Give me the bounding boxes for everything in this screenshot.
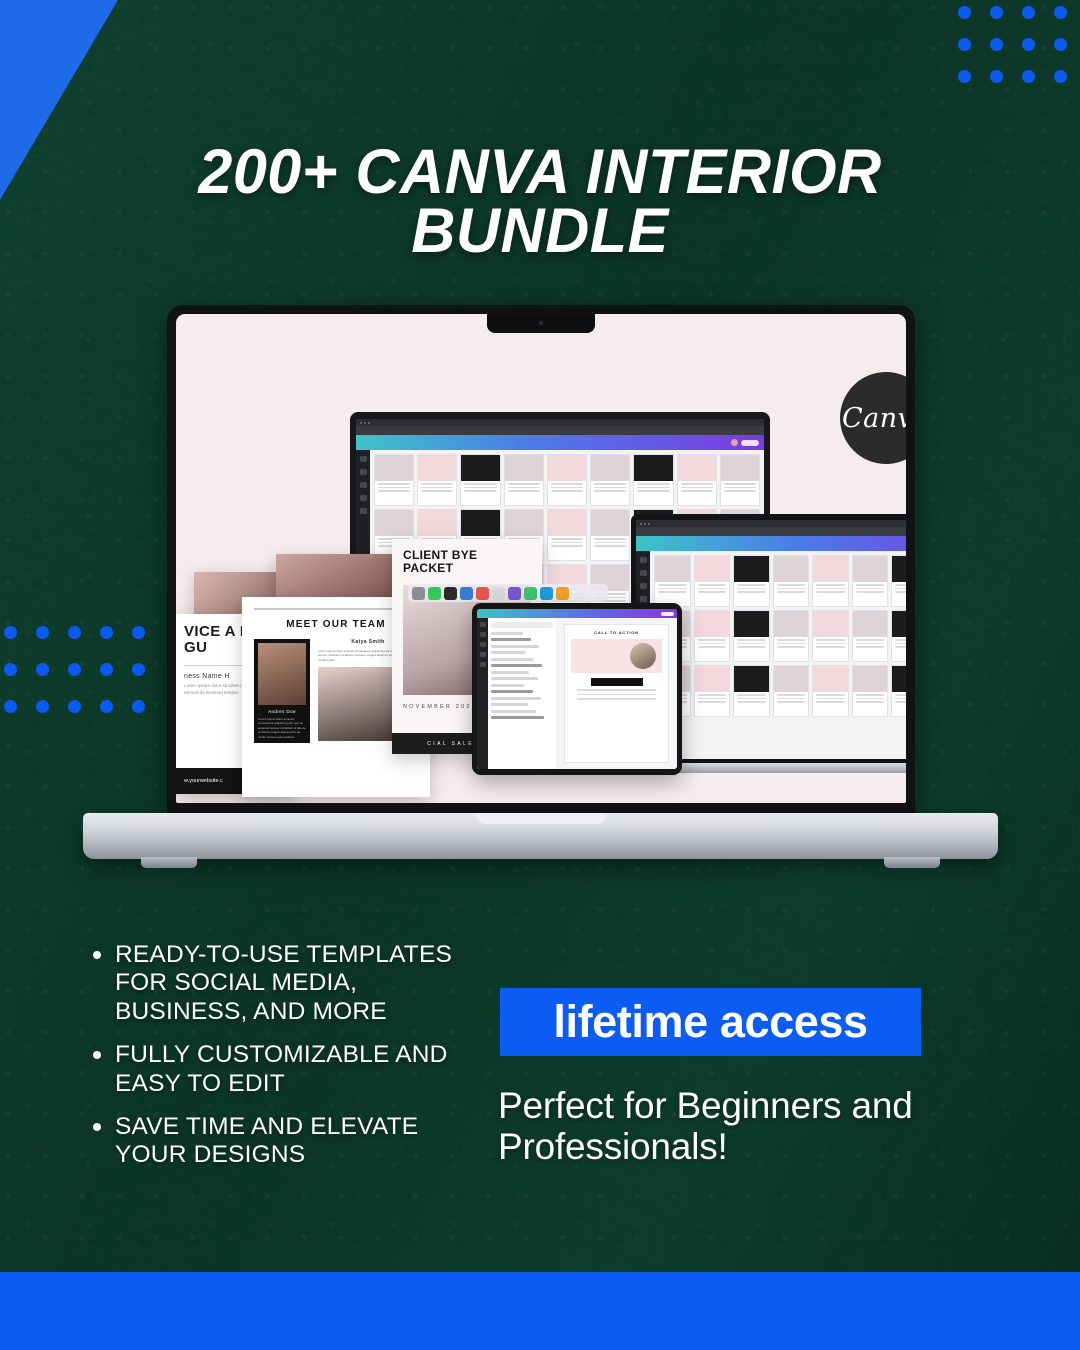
- template-card[interactable]: [852, 555, 889, 607]
- template-card[interactable]: [852, 665, 889, 717]
- template-text-line: [895, 646, 906, 648]
- template-card[interactable]: [694, 610, 731, 662]
- decorative-dot: [1054, 38, 1067, 51]
- template-text-line: [724, 487, 756, 489]
- menu-dot-icon: [644, 523, 646, 525]
- text-line: [577, 689, 655, 691]
- rail-icon: [640, 557, 647, 563]
- template-text-line: [816, 646, 845, 648]
- template-text-line: [895, 694, 906, 696]
- template-thumbnail: [774, 666, 809, 692]
- rail-icon: [640, 570, 647, 576]
- template-thumbnail: [721, 455, 759, 481]
- template-text-line: [551, 542, 583, 544]
- decorative-dot: [36, 626, 49, 639]
- template-card[interactable]: [590, 509, 630, 561]
- template-card[interactable]: [504, 454, 544, 506]
- template-text-line: [594, 542, 626, 544]
- decorative-dot: [4, 626, 17, 639]
- template-text-line: [777, 694, 806, 696]
- template-text-line: [508, 483, 540, 485]
- webcam-notch-icon: [487, 314, 595, 333]
- canva-side-rail: [477, 618, 488, 769]
- template-text-line: [698, 584, 727, 586]
- template-text-line: [777, 584, 806, 586]
- decorative-dot: [990, 6, 1003, 19]
- browser-tab-strip: [636, 527, 906, 536]
- template-thumbnail: [695, 666, 730, 692]
- template-text-line: [698, 701, 727, 703]
- template-text-line: [777, 643, 806, 645]
- template-text-line: [421, 490, 453, 492]
- rail-icon: [360, 469, 367, 475]
- poster-canvas: 200+ CANVA INTERIOR BUNDLE Canva: [0, 0, 1080, 1350]
- template-card[interactable]: [547, 454, 587, 506]
- page-title: CALL TO ACTION: [594, 630, 639, 635]
- template-text-line: [737, 639, 766, 641]
- canva-logo: Canva: [840, 372, 906, 464]
- template-text-line: [737, 643, 766, 645]
- decorative-dot: [1022, 6, 1035, 19]
- template-text-line: [658, 588, 687, 590]
- design-canvas: CALL TO ACTION: [556, 618, 677, 769]
- font-list-item[interactable]: [491, 632, 523, 635]
- template-thumbnail: [418, 455, 456, 481]
- template-thumbnail: [774, 556, 809, 582]
- decorative-dot: [68, 626, 81, 639]
- template-text-line: [594, 545, 626, 547]
- template-text-line: [698, 639, 727, 641]
- text-line: [577, 694, 655, 696]
- template-card[interactable]: [733, 610, 770, 662]
- template-thumbnail: [418, 510, 456, 536]
- template-text-line: [856, 588, 885, 590]
- decorative-dot: [4, 663, 17, 676]
- font-list-item[interactable]: [491, 651, 526, 654]
- template-thumbnail: [591, 510, 629, 536]
- template-card[interactable]: [891, 555, 906, 607]
- feature-list: READY-TO-USE TEMPLATES FOR SOCIAL MEDIA,…: [86, 941, 486, 1185]
- template-text-line: [698, 646, 727, 648]
- menu-dot-icon: [640, 523, 642, 525]
- template-text-line: [551, 490, 583, 492]
- template-card[interactable]: [374, 454, 414, 506]
- template-text-line: [737, 588, 766, 590]
- feature-list-item: READY-TO-USE TEMPLATES FOR SOCIAL MEDIA,…: [86, 941, 486, 1026]
- template-text-line: [681, 490, 713, 492]
- template-text-line: [895, 588, 906, 590]
- template-thumbnail: [892, 556, 906, 582]
- template-text-line: [816, 701, 845, 703]
- menu-dot-icon: [368, 422, 370, 424]
- template-card[interactable]: [852, 610, 889, 662]
- tablet-device: CALL TO ACTION: [472, 603, 682, 775]
- decorative-dot: [1054, 6, 1067, 19]
- template-text-line: [856, 694, 885, 696]
- packet-heading: CLIENT BYE PACKET: [403, 549, 531, 575]
- template-text-line: [508, 490, 540, 492]
- template-thumbnail: [892, 666, 906, 692]
- laptop-base: [83, 813, 998, 859]
- member-bio: Lorem ipsum dolor sit amet, consectetur …: [258, 717, 306, 740]
- template-grid: [650, 551, 906, 759]
- template-text-line: [508, 487, 540, 489]
- template-card[interactable]: [773, 610, 810, 662]
- template-card[interactable]: [677, 454, 717, 506]
- feature-list-item: FULLY CUSTOMIZABLE AND EASY TO EDIT: [86, 1041, 486, 1098]
- template-text-line: [378, 490, 410, 492]
- font-list-item[interactable]: [491, 690, 533, 693]
- dock-app-icon[interactable]: [460, 587, 473, 600]
- template-text-line: [856, 701, 885, 703]
- template-thumbnail: [678, 455, 716, 481]
- template-text-line: [724, 490, 756, 492]
- member-name: Andres Doe: [258, 709, 306, 714]
- template-text-line: [777, 646, 806, 648]
- team-member-dark: Andres Doe Lorem ipsum dolor sit amet, c…: [254, 639, 310, 744]
- dock-app-icon[interactable]: [556, 587, 569, 600]
- user-avatar: [731, 439, 738, 446]
- decorative-dot: [68, 700, 81, 713]
- template-text-line: [895, 701, 906, 703]
- template-text-line: [551, 545, 583, 547]
- template-thumbnail: [813, 556, 848, 582]
- laptop-lid: Canva: [167, 305, 915, 817]
- decorative-dot: [36, 663, 49, 676]
- lifetime-access-badge: lifetime access: [500, 988, 921, 1056]
- template-text-line: [895, 639, 906, 641]
- font-list-item[interactable]: [491, 677, 538, 680]
- template-text-line: [777, 701, 806, 703]
- laptop-screen: Canva: [176, 314, 906, 803]
- menu-dot-icon: [360, 422, 362, 424]
- dock-app-icon[interactable]: [492, 587, 505, 600]
- canva-toolbar: [477, 609, 677, 618]
- template-thumbnail: [695, 556, 730, 582]
- bottom-accent-bar: [0, 1272, 1080, 1350]
- template-card[interactable]: [891, 610, 906, 662]
- template-text-line: [724, 483, 756, 485]
- template-thumbnail: [548, 455, 586, 481]
- macos-dock: [408, 584, 608, 602]
- template-thumbnail: [505, 455, 543, 481]
- rail-icon: [640, 583, 647, 589]
- template-text-line: [777, 591, 806, 593]
- template-text-line: [551, 483, 583, 485]
- template-thumbnail: [505, 510, 543, 536]
- decorative-dot: [958, 70, 971, 83]
- canva-workspace: CALL TO ACTION: [477, 618, 677, 769]
- template-card[interactable]: [547, 509, 587, 561]
- rail-icon: [480, 642, 486, 647]
- decorative-dot: [36, 700, 49, 713]
- template-text-line: [698, 643, 727, 645]
- template-thumbnail: [892, 611, 906, 637]
- template-text-line: [816, 588, 845, 590]
- hero-photo: [630, 643, 656, 669]
- font-list-item[interactable]: [491, 710, 536, 713]
- template-text-line: [594, 483, 626, 485]
- template-card[interactable]: [694, 555, 731, 607]
- rail-icon: [360, 482, 367, 488]
- template-text-line: [698, 591, 727, 593]
- lifetime-access-label: lifetime access: [553, 996, 867, 1048]
- template-text-line: [816, 698, 845, 700]
- rail-icon: [640, 596, 647, 602]
- template-text-line: [816, 591, 845, 593]
- template-text-line: [816, 584, 845, 586]
- font-list-item[interactable]: [491, 716, 544, 719]
- font-list-item[interactable]: [491, 638, 531, 641]
- template-text-line: [737, 646, 766, 648]
- template-thumbnail: [734, 611, 769, 637]
- dock-app-icon[interactable]: [444, 587, 457, 600]
- template-thumbnail: [591, 455, 629, 481]
- template-card[interactable]: [417, 454, 457, 506]
- template-card[interactable]: [694, 665, 731, 717]
- template-text-line: [856, 646, 885, 648]
- template-text-line: [637, 490, 669, 492]
- rail-icon: [360, 456, 367, 462]
- template-thumbnail: [375, 510, 413, 536]
- template-card[interactable]: [733, 555, 770, 607]
- title-line-2: BUNDLE: [16, 202, 1064, 261]
- member-photo: [258, 643, 306, 705]
- template-card[interactable]: [773, 665, 810, 717]
- template-thumbnail: [634, 455, 672, 481]
- decorative-dot: [4, 700, 17, 713]
- template-text-line: [895, 584, 906, 586]
- template-text-line: [658, 584, 687, 586]
- template-text-line: [594, 487, 626, 489]
- template-card[interactable]: [812, 610, 849, 662]
- template-text-line: [737, 701, 766, 703]
- template-text-line: [464, 487, 496, 489]
- template-text-line: [816, 643, 845, 645]
- dock-app-icon[interactable]: [540, 587, 553, 600]
- template-text-line: [551, 487, 583, 489]
- template-thumbnail: [853, 666, 888, 692]
- template-text-line: [777, 698, 806, 700]
- template-card[interactable]: [590, 454, 630, 506]
- font-list-item[interactable]: [491, 684, 524, 687]
- template-thumbnail: [774, 611, 809, 637]
- canva-logo-text: Canva: [842, 403, 906, 434]
- template-thumbnail: [853, 611, 888, 637]
- template-thumbnail: [655, 556, 690, 582]
- font-list-item[interactable]: [491, 697, 541, 700]
- share-button: [661, 612, 674, 616]
- template-thumbnail: [375, 455, 413, 481]
- template-text-line: [658, 591, 687, 593]
- template-text-line: [464, 483, 496, 485]
- decorative-dot: [68, 663, 81, 676]
- template-card[interactable]: [633, 454, 673, 506]
- template-text-line: [856, 698, 885, 700]
- template-card[interactable]: [654, 555, 691, 607]
- canva-toolbar: [356, 435, 764, 450]
- template-thumbnail: [461, 510, 499, 536]
- template-text-line: [637, 483, 669, 485]
- font-list-panel: [488, 618, 556, 769]
- template-thumbnail: [734, 556, 769, 582]
- template-text-line: [551, 538, 583, 540]
- font-list-item[interactable]: [491, 645, 539, 648]
- font-list-item[interactable]: [491, 658, 534, 661]
- decorative-dot: [958, 6, 971, 19]
- template-thumbnail: [734, 666, 769, 692]
- template-text-line: [895, 698, 906, 700]
- template-text-line: [681, 483, 713, 485]
- template-card[interactable]: [812, 665, 849, 717]
- search-input[interactable]: [491, 622, 553, 628]
- os-menu-bar: [356, 419, 764, 426]
- template-text-line: [856, 584, 885, 586]
- template-text-line: [816, 639, 845, 641]
- decorative-dot: [1022, 38, 1035, 51]
- device-mockup: Canva: [83, 305, 998, 865]
- hero-block: [571, 639, 662, 673]
- template-thumbnail: [695, 611, 730, 637]
- laptop-foot: [884, 857, 940, 868]
- feature-list-item: SAVE TIME AND ELEVATE YOUR DESIGNS: [86, 1113, 486, 1170]
- template-text-line: [737, 584, 766, 586]
- template-text-line: [594, 490, 626, 492]
- dock-app-icon[interactable]: [428, 587, 441, 600]
- template-text-line: [737, 591, 766, 593]
- font-list-item[interactable]: [491, 671, 529, 674]
- template-text-line: [737, 698, 766, 700]
- template-card[interactable]: [773, 555, 810, 607]
- template-text-line: [698, 694, 727, 696]
- decorative-dot: [1054, 70, 1067, 83]
- tablet-screen: CALL TO ACTION: [477, 609, 677, 769]
- template-card[interactable]: [720, 454, 760, 506]
- dot-grid-top-right: [958, 6, 1080, 102]
- font-list-item[interactable]: [491, 703, 528, 706]
- rail-icon: [480, 652, 486, 657]
- template-thumbnail: [461, 455, 499, 481]
- template-text-line: [856, 643, 885, 645]
- browser-tab-strip: [356, 426, 764, 435]
- page-title: 200+ CANVA INTERIOR BUNDLE: [16, 143, 1064, 261]
- template-text-line: [816, 694, 845, 696]
- template-text-line: [698, 698, 727, 700]
- template-card[interactable]: [733, 665, 770, 717]
- dock-app-icon[interactable]: [476, 587, 489, 600]
- template-text-line: [895, 591, 906, 593]
- decorative-dot: [1022, 70, 1035, 83]
- template-text-line: [378, 483, 410, 485]
- dock-app-icon[interactable]: [508, 587, 521, 600]
- template-text-line: [777, 588, 806, 590]
- template-text-line: [464, 490, 496, 492]
- laptop-foot: [141, 857, 197, 868]
- share-button: [741, 440, 759, 446]
- rail-icon: [480, 632, 486, 637]
- rail-icon: [360, 508, 367, 514]
- dock-app-icon[interactable]: [412, 587, 425, 600]
- decorative-dot: [958, 38, 971, 51]
- template-text-line: [895, 643, 906, 645]
- template-thumbnail: [853, 556, 888, 582]
- design-page: CALL TO ACTION: [564, 624, 669, 763]
- template-text-line: [698, 588, 727, 590]
- decorative-dot: [990, 70, 1003, 83]
- template-text-line: [637, 487, 669, 489]
- menu-dot-icon: [364, 422, 366, 424]
- template-text-line: [378, 487, 410, 489]
- decorative-dot: [990, 38, 1003, 51]
- promo-subtitle: Perfect for Beginners and Professionals!: [498, 1086, 968, 1167]
- template-card[interactable]: [460, 454, 500, 506]
- template-card[interactable]: [891, 665, 906, 717]
- dock-app-icon[interactable]: [524, 587, 537, 600]
- template-text-line: [594, 538, 626, 540]
- template-text-line: [856, 639, 885, 641]
- template-text-line: [421, 483, 453, 485]
- template-text-line: [737, 694, 766, 696]
- font-list-item[interactable]: [491, 664, 542, 667]
- text-line: [577, 698, 655, 700]
- rail-icon: [480, 622, 486, 627]
- cta-button: [591, 678, 643, 686]
- template-thumbnail: [548, 510, 586, 536]
- template-text-line: [681, 487, 713, 489]
- template-text-line: [777, 639, 806, 641]
- rail-icon: [480, 662, 486, 667]
- template-card[interactable]: [812, 555, 849, 607]
- os-menu-bar: [636, 520, 906, 527]
- rail-icon: [360, 495, 367, 501]
- template-text-line: [856, 591, 885, 593]
- template-text-line: [421, 487, 453, 489]
- canva-toolbar: [636, 536, 906, 551]
- template-thumbnail: [813, 611, 848, 637]
- template-thumbnail: [813, 666, 848, 692]
- menu-dot-icon: [648, 523, 650, 525]
